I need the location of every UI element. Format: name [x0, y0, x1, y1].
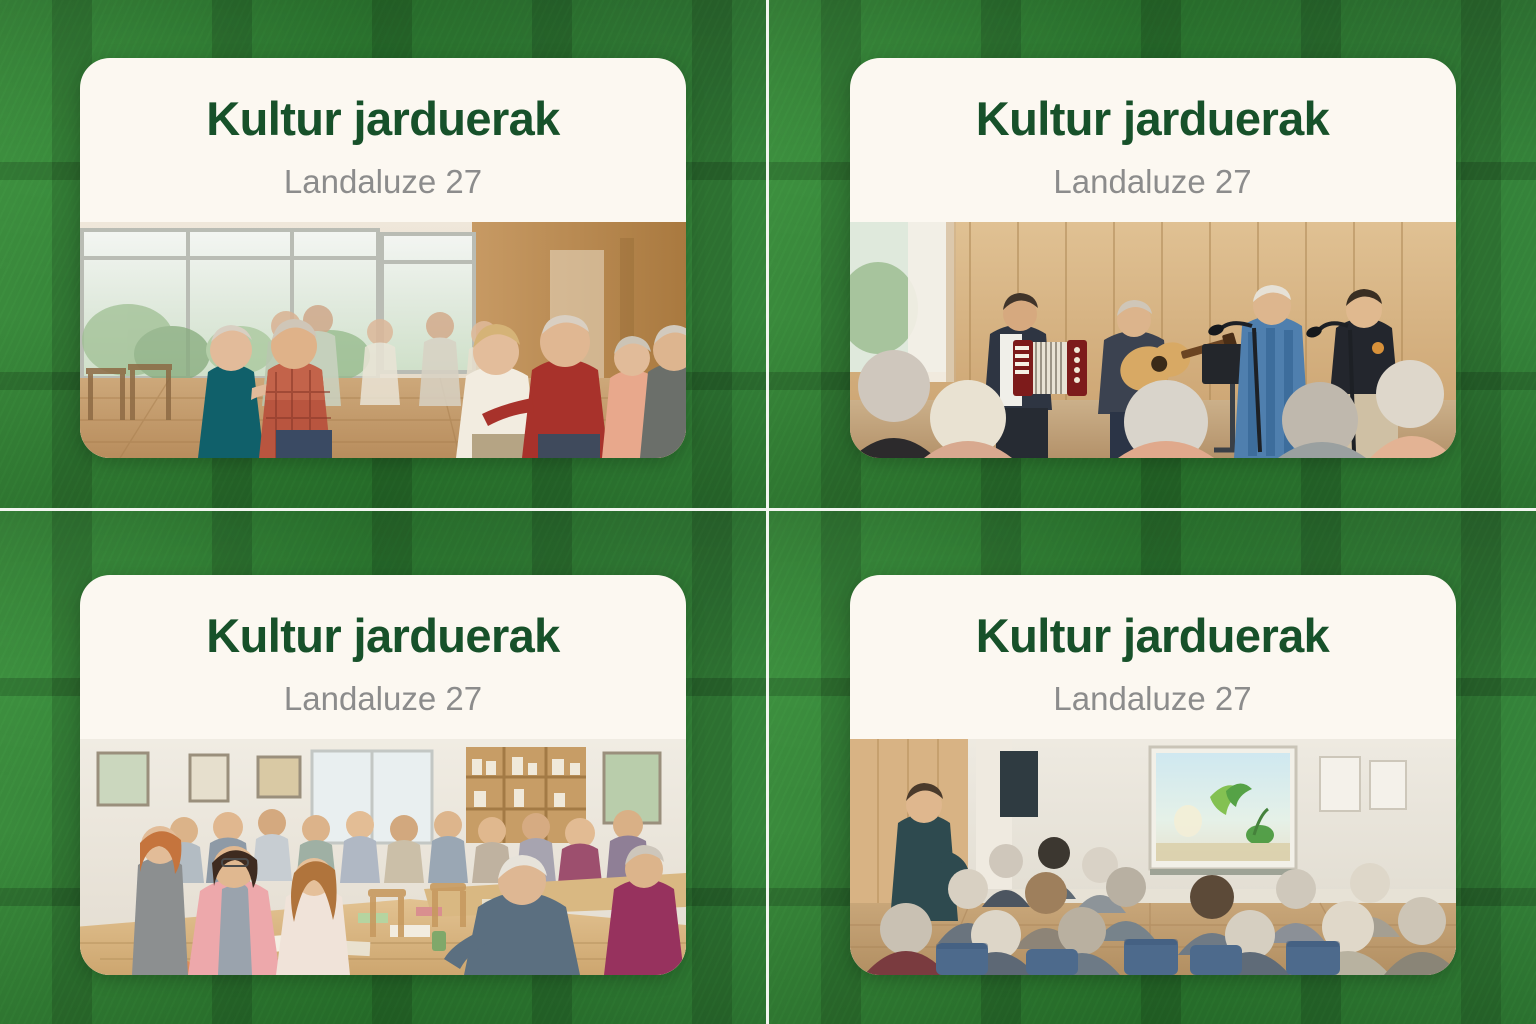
poster-panel-2: Kultur jarduerak Landaluze 27	[769, 0, 1536, 508]
poster-panel-3: Kultur jarduerak Landaluze 27	[0, 511, 766, 1024]
card-header-3: Kultur jarduerak Landaluze 27	[80, 575, 686, 739]
page-title: Kultur jarduerak	[104, 611, 662, 661]
poster-panel-4: Kultur jarduerak Landaluze 27	[769, 511, 1536, 1024]
event-card-2[interactable]: Kultur jarduerak Landaluze 27	[850, 58, 1456, 458]
card-subtitle: Landaluze 27	[874, 681, 1432, 717]
card-subtitle: Landaluze 27	[104, 164, 662, 200]
seniors-ballroom-dancing-photo	[80, 222, 686, 458]
event-card-1[interactable]: Kultur jarduerak Landaluze 27	[80, 58, 686, 458]
live-music-performance-photo	[850, 222, 1456, 458]
card-header-4: Kultur jarduerak Landaluze 27	[850, 575, 1456, 739]
card-subtitle: Landaluze 27	[874, 164, 1432, 200]
card-header-2: Kultur jarduerak Landaluze 27	[850, 58, 1456, 222]
event-card-3[interactable]: Kultur jarduerak Landaluze 27	[80, 575, 686, 975]
event-card-4[interactable]: Kultur jarduerak Landaluze 27	[850, 575, 1456, 975]
lecture-presentation-photo	[850, 739, 1456, 975]
page-title: Kultur jarduerak	[874, 94, 1432, 144]
poster-panel-1: Kultur jarduerak Landaluze 27	[0, 0, 766, 508]
page-title: Kultur jarduerak	[874, 611, 1432, 661]
card-subtitle: Landaluze 27	[104, 681, 662, 717]
craft-workshop-tables-photo	[80, 739, 686, 975]
poster-grid: Kultur jarduerak Landaluze 27	[0, 0, 1536, 1024]
card-header-1: Kultur jarduerak Landaluze 27	[80, 58, 686, 222]
page-title: Kultur jarduerak	[104, 94, 662, 144]
